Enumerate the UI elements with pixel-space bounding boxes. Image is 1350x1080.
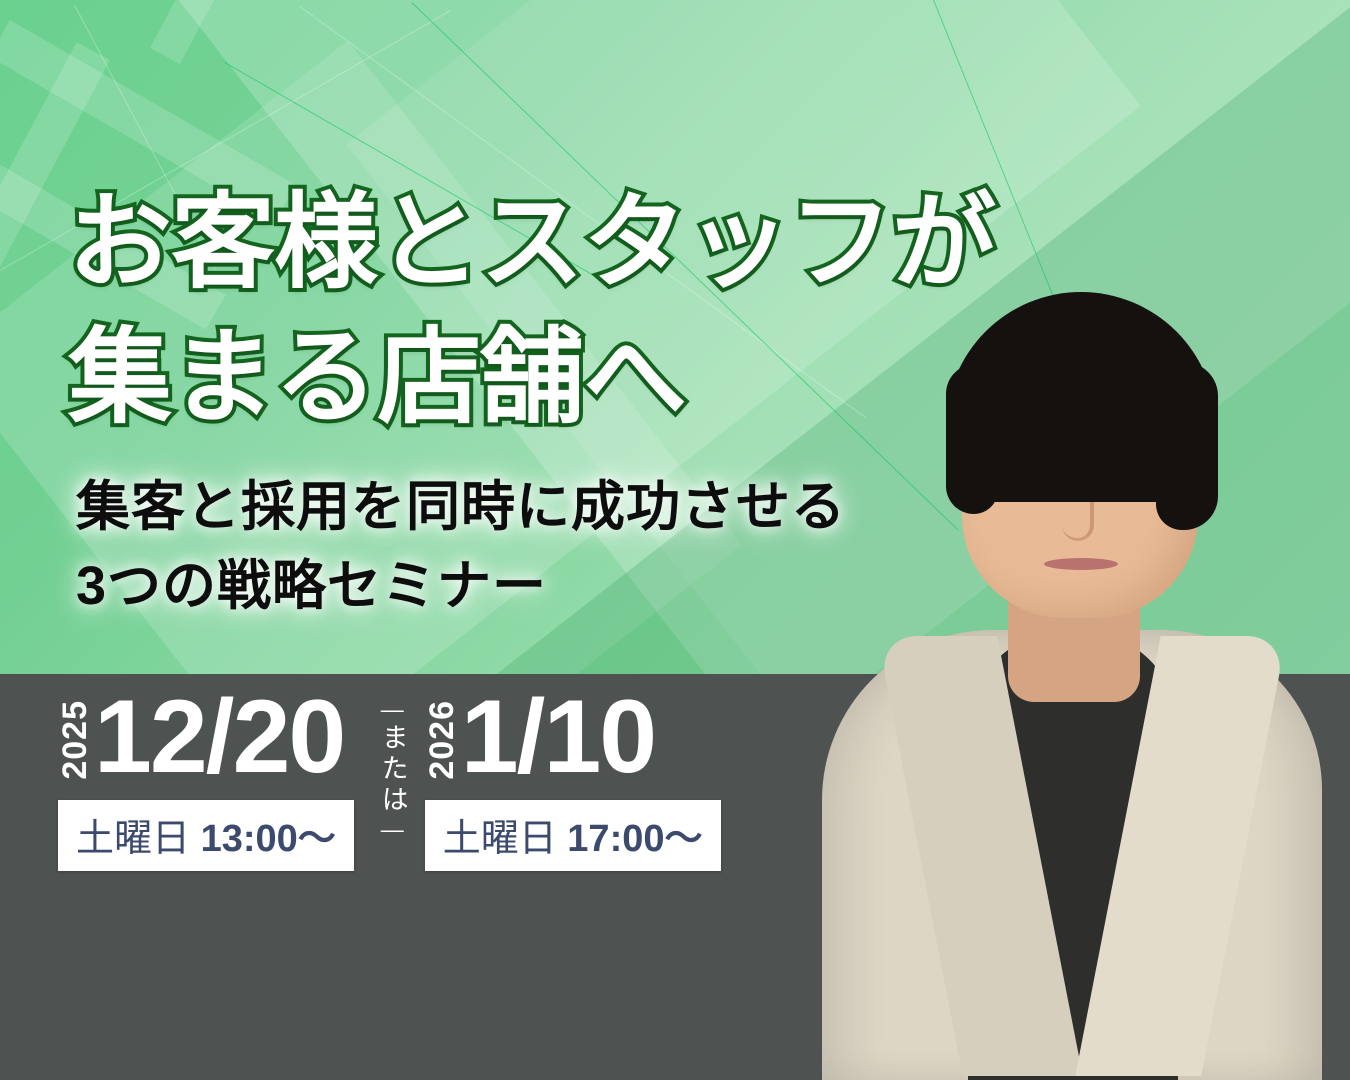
headline: お客様とスタッフが 集まる店舗へ: [68, 176, 1068, 446]
date-separator: ― または ―: [376, 696, 409, 843]
date-option-1: 2025 12/20 土曜日 13:00〜: [58, 690, 354, 871]
date-row: 2025 12/20 土曜日 13:00〜 ― または ― 2026 1/10 …: [58, 690, 721, 871]
date-option-2: 2026 1/10 土曜日 17:00〜: [425, 690, 721, 871]
separator-dash-top: ―: [381, 698, 404, 721]
date-1-heading: 2025 12/20: [58, 690, 354, 786]
headline-line-2: 集まる店舗へ: [68, 311, 1068, 446]
date-1-year: 2025: [58, 700, 92, 780]
subtitle: 集客と採用を同時に成功させる 3つの戦略セミナー: [76, 468, 976, 626]
date-2-time-spacer: [557, 818, 568, 860]
subtitle-line-1: 集客と採用を同時に成功させる: [76, 468, 976, 547]
headline-line-1: お客様とスタッフが: [68, 176, 1068, 311]
separator-word: または: [376, 723, 409, 816]
date-2-time-badge: 土曜日 17:00〜: [425, 800, 721, 871]
date-2-month-day: 1/10: [461, 690, 655, 786]
speaker-mouth: [1044, 558, 1118, 570]
date-1-time-badge: 土曜日 13:00〜: [58, 800, 354, 871]
date-2-heading: 2026 1/10: [425, 690, 721, 786]
date-2-weekday: 土曜日: [443, 818, 557, 860]
subtitle-line-2: 3つの戦略セミナー: [76, 547, 976, 626]
date-1-time-spacer: [190, 818, 201, 860]
seminar-banner: お客様とスタッフが 集まる店舗へ 集客と採用を同時に成功させる 3つの戦略セミナ…: [0, 0, 1350, 1080]
date-1-month-day: 12/20: [94, 690, 344, 786]
separator-dash-bottom: ―: [381, 818, 404, 841]
date-1-time: 13:00〜: [201, 818, 336, 860]
date-1-weekday: 土曜日: [76, 818, 190, 860]
date-2-time: 17:00〜: [567, 818, 702, 860]
date-2-year: 2026: [425, 700, 459, 780]
